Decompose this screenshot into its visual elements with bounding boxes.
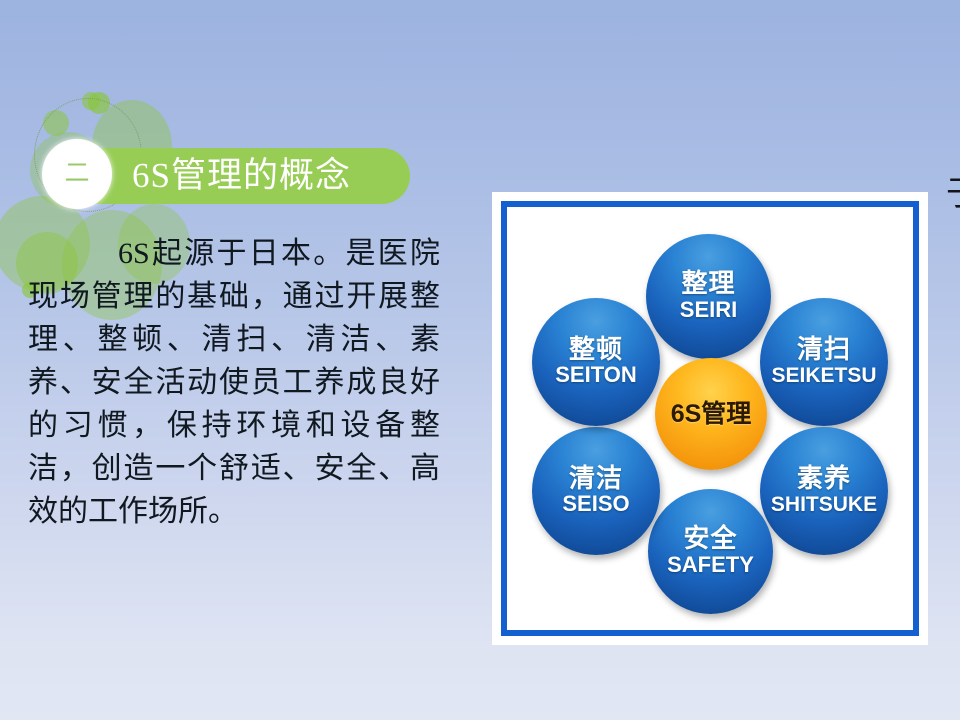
node-label-en: SAFETY [667,553,754,578]
node-label-en: SEITON [555,363,637,388]
section-number-badge: 二 [42,139,112,209]
diagram-node-center: 6S管理 [655,358,767,470]
body-paragraph: 6S起源于日本。是医院现场管理的基础，通过开展整理、整顿、清扫、清洁、素养、安全… [28,232,440,533]
page-title: 6S管理的概念 [132,149,412,203]
node-label-cn: 清扫 [797,336,851,364]
node-label-en: SHITSUKE [771,493,877,517]
node-label-en: SEIRI [680,298,737,323]
decor-blob-small-top [82,92,100,110]
decor-blob-small-topleft [43,110,69,136]
diagram-node-seiri: 整理 SEIRI [646,234,771,359]
diagram-node-seiketsu: 清扫 SEIKETSU [760,298,888,426]
section-number-label: 二 [42,139,112,209]
node-label-en: SEISO [562,492,629,517]
node-label-en: SEIKETSU [771,364,876,388]
node-label-cn: 清洁 [569,465,623,493]
node-label-cn: 整顿 [569,336,623,364]
node-label-cn: 素养 [797,465,851,493]
diagram-node-seiton: 整顿 SEITON [532,298,660,426]
diagram-node-safety: 安全 SAFETY [648,489,773,614]
node-label-cn: 整理 [681,270,735,298]
diagram-node-shitsuke: 素养 SHITSUKE [760,427,888,555]
diagram-node-seiso: 清洁 SEISO [532,427,660,555]
node-label-cn: 6S管理 [671,401,752,428]
decor-blob-tiny-top [88,92,110,114]
clipped-edge-glyph: 于 [946,160,960,230]
node-label-cn: 安全 [683,525,737,553]
slide-canvas: 6S管理的概念 二 6S起源于日本。是医院现场管理的基础，通过开展整理、整顿、清… [0,0,960,720]
